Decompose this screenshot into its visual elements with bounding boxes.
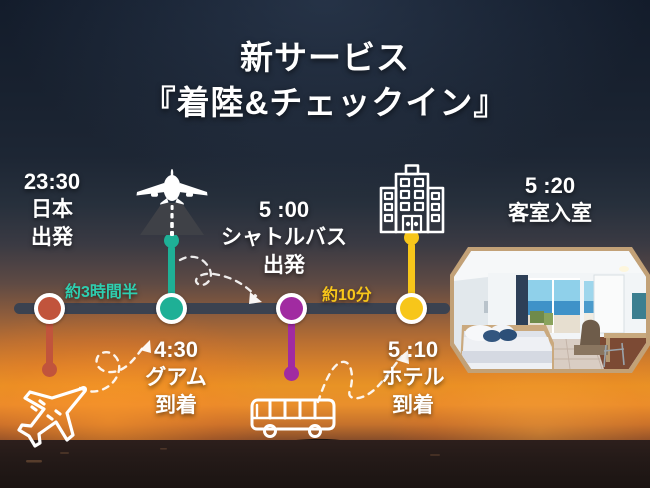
label-japan-departure: 23:30 日本 出発 <box>8 168 96 252</box>
timeline-node-guam-arrival[interactable] <box>156 293 187 324</box>
duration-flight: 約3時間半 <box>65 278 138 302</box>
timeline-node-hotel-arrival[interactable] <box>396 293 427 324</box>
action-bus-departure: 出発 <box>210 252 358 280</box>
hotel-building-icon <box>376 162 448 234</box>
hotel-room-photo-frame <box>450 247 650 373</box>
action-japan-departure: 出発 <box>8 224 96 252</box>
stem-hotel-arrival <box>408 242 415 300</box>
time-hotel-arrival: 5 :10 <box>368 336 458 364</box>
water-reflection <box>0 440 650 488</box>
hotel-guest-room-photo <box>454 251 646 369</box>
airplane-takeoff-icon <box>10 378 92 448</box>
action-hotel-arrival: 到着 <box>368 392 458 420</box>
runway-icon <box>140 203 204 237</box>
timeline-node-japan-departure[interactable] <box>34 293 65 324</box>
place-guam-arrival: グアム <box>126 364 226 392</box>
duration-bus: 約10分 <box>322 281 372 305</box>
label-guam-arrival: 4:30 グアム 到着 <box>126 336 226 420</box>
timeline-node-bus-departure[interactable] <box>276 293 307 324</box>
label-hotel-arrival: 5 :10 ホテル 到着 <box>368 336 458 420</box>
headline-block: 新サービス 『着陸&チェックイン』 <box>0 38 650 124</box>
airplane-front-icon <box>134 168 210 206</box>
label-bus-departure: 5 :00 シャトルバス 出発 <box>210 196 358 280</box>
time-room-checkin: 5 :20 <box>468 172 632 200</box>
headline-line-1: 新サービス <box>0 38 650 78</box>
infographic-canvas: 新サービス 『着陸&チェックイン』 23:30 日本 出発 約3時間半 <box>0 0 650 488</box>
label-room-checkin: 5 :20 客室入室 <box>468 172 632 228</box>
stem-dot-bus-departure <box>284 366 299 381</box>
place-bus-departure: シャトルバス <box>210 224 358 252</box>
place-hotel-arrival: ホテル <box>368 364 458 392</box>
action-room-checkin: 客室入室 <box>468 200 632 228</box>
bus-icon <box>248 392 336 440</box>
place-japan-departure: 日本 <box>8 196 96 224</box>
headline-line-2: 『着陸&チェックイン』 <box>0 82 650 124</box>
time-japan-departure: 23:30 <box>8 168 96 196</box>
time-bus-departure: 5 :00 <box>210 196 358 224</box>
action-guam-arrival: 到着 <box>126 392 226 420</box>
stem-dot-japan-departure <box>42 362 57 377</box>
time-guam-arrival: 4:30 <box>126 336 226 364</box>
